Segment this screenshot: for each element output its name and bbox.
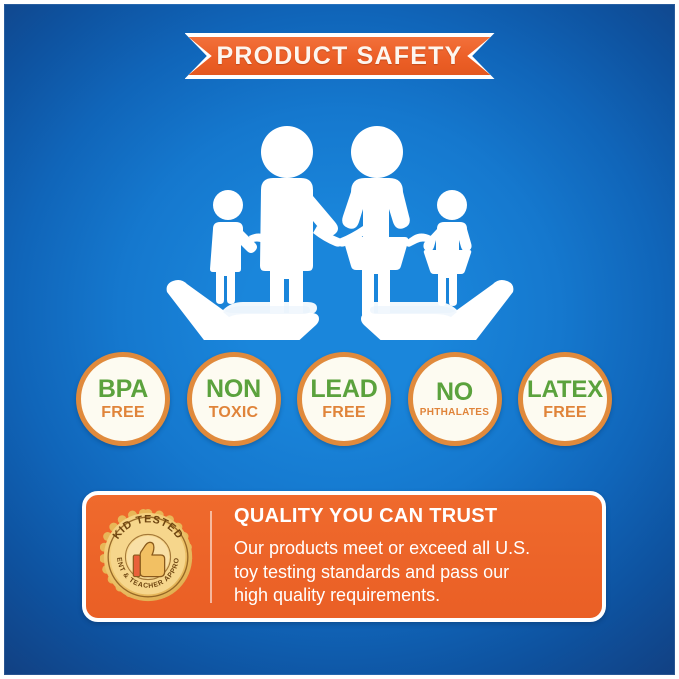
trust-body-line: Our products meet or exceed all U.S. [234, 537, 530, 561]
badge-sub-label: FREE [543, 405, 586, 421]
child-boy-figure [210, 190, 257, 304]
banner-title: PRODUCT SAFETY [185, 33, 495, 79]
badge-no-phthalates: NO PHTHALATES [408, 352, 502, 446]
badge-sub-label: TOXIC [209, 405, 259, 421]
product-safety-banner: PRODUCT SAFETY [185, 33, 495, 79]
badge-non-toxic: NON TOXIC [187, 352, 281, 446]
badge-main-label: LEAD [310, 377, 377, 402]
badge-bpa-free: BPA FREE [76, 352, 170, 446]
trust-title: QUALITY YOU CAN TRUST [234, 505, 530, 528]
badge-main-label: BPA [98, 377, 148, 402]
badge-main-label: NON [206, 377, 261, 402]
badge-main-label: LATEX [527, 378, 603, 402]
badge-sub-label: FREE [322, 405, 365, 421]
badge-sub-label: PHTHALATES [420, 408, 489, 418]
badge-main-label: NO [436, 380, 473, 405]
trust-body-line: high quality requirements. [234, 584, 530, 608]
badge-latex-free: LATEX FREE [518, 352, 612, 446]
badge-sub-label: FREE [101, 405, 144, 421]
kid-tested-seal: KID TESTED · PARENT & TEACHER APPROVED · [100, 509, 196, 605]
badge-lead-free: LEAD FREE [297, 352, 391, 446]
trust-text-block: QUALITY YOU CAN TRUST Our products meet … [212, 505, 542, 609]
child-girl-figure [423, 190, 471, 306]
mother-figure [342, 126, 410, 320]
trust-body: Our products meet or exceed all U.S. toy… [234, 537, 530, 609]
trust-body-line: toy testing standards and pass our [234, 561, 530, 585]
product-safety-infographic: PRODUCT SAFETY [0, 0, 679, 679]
quality-trust-panel: KID TESTED · PARENT & TEACHER APPROVED ·… [82, 491, 606, 622]
safety-badge-row: BPA FREE NON TOXIC LEAD FREE NO PHTHALAT… [76, 351, 612, 447]
family-in-hands-illustration [165, 108, 515, 340]
seal-container: KID TESTED · PARENT & TEACHER APPROVED · [86, 509, 210, 605]
